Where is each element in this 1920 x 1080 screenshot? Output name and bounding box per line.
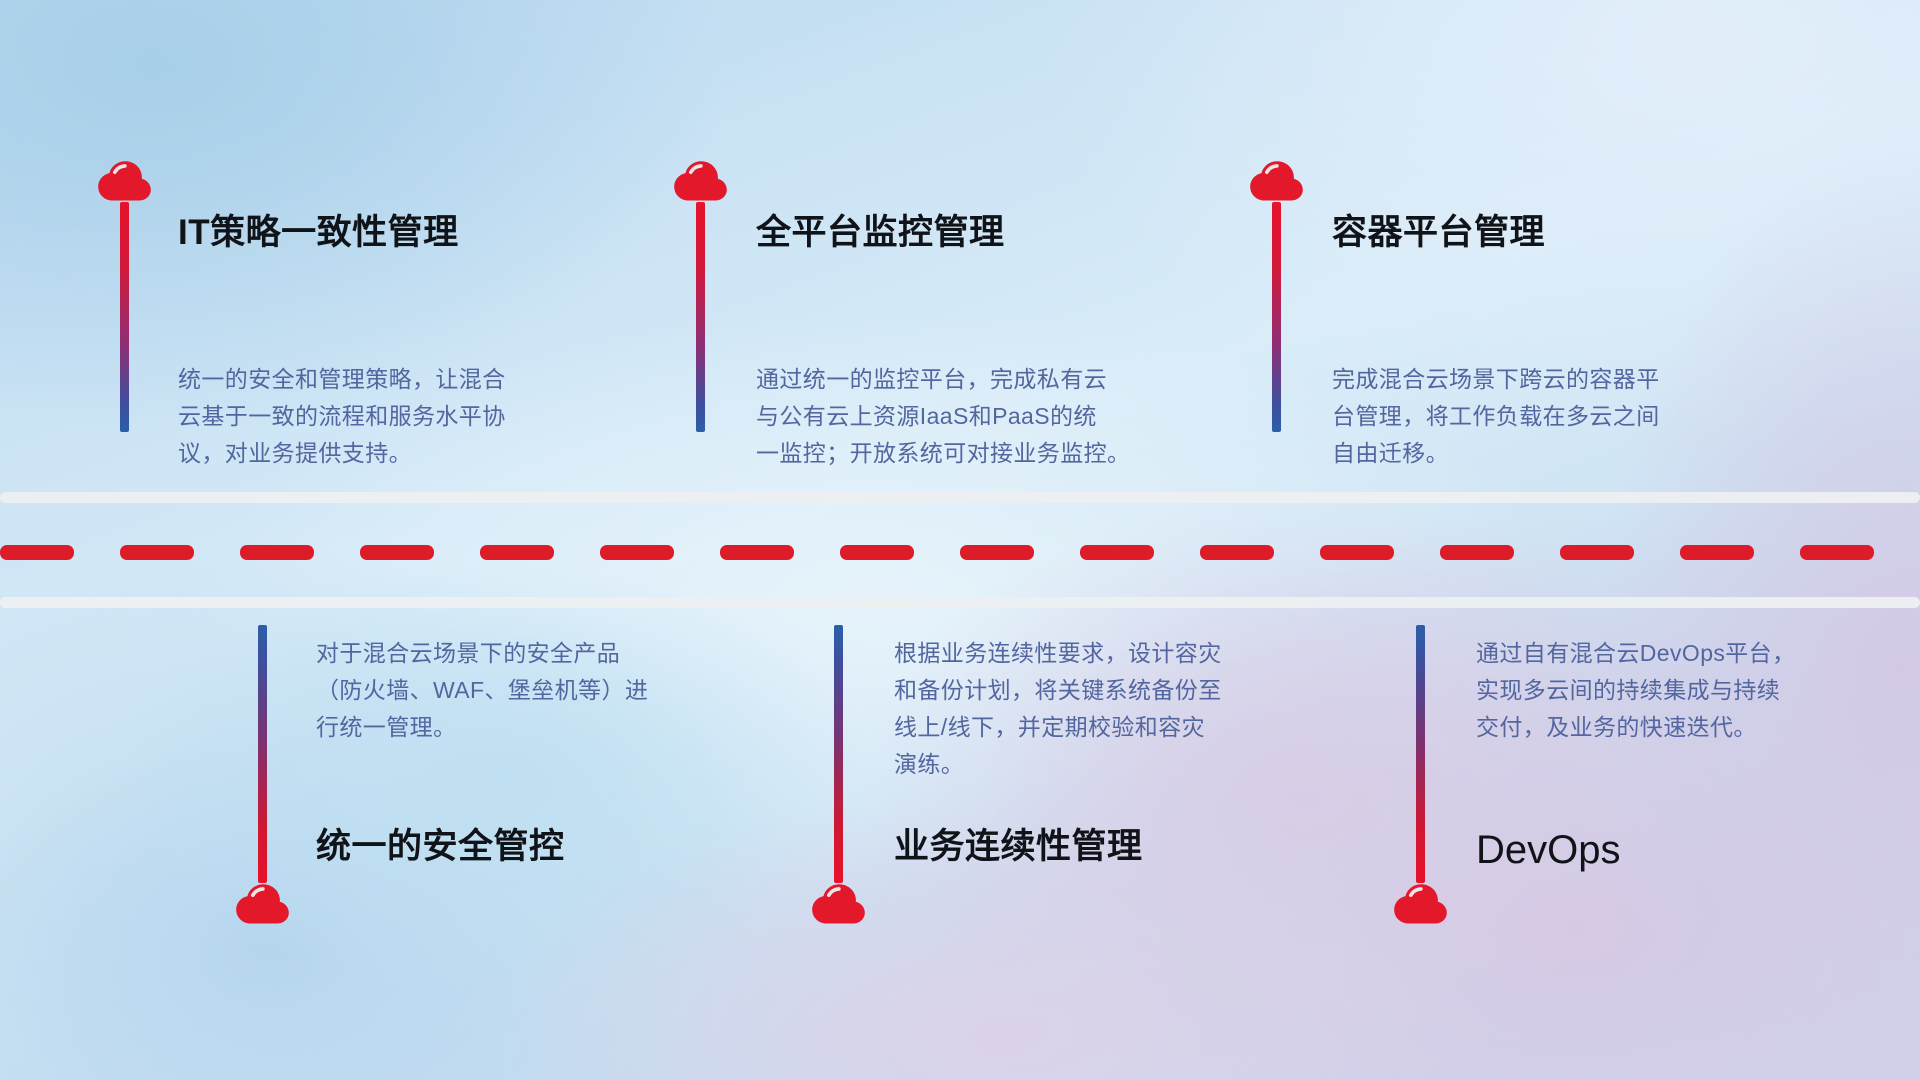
cloud-icon	[1390, 881, 1452, 925]
pin-stem	[1272, 202, 1281, 432]
divider-dash	[360, 545, 434, 560]
pin-stem	[1416, 625, 1425, 883]
divider-dash	[1560, 545, 1634, 560]
card-business-continuity: 业务连续性管理	[894, 826, 1324, 868]
cloud-icon	[232, 881, 294, 925]
card-body-it-policy-consistency: 统一的安全和管理策略，让混合 云基于一致的流程和服务水平协 议，对业务提供支持。	[178, 361, 608, 472]
divider-dash	[960, 545, 1034, 560]
card-title: 统一的安全管控	[316, 826, 746, 868]
pin-full-platform-monitoring	[670, 158, 732, 432]
divider-dash	[1200, 545, 1274, 560]
card-body-text: 通过统一的监控平台，完成私有云 与公有云上资源IaaS和PaaS的统 一监控；开…	[756, 361, 1196, 472]
card-body-text: 统一的安全和管理策略，让混合 云基于一致的流程和服务水平协 议，对业务提供支持。	[178, 361, 608, 472]
pin-stem	[696, 202, 705, 432]
divider-dash	[1800, 545, 1874, 560]
pin-container-platform	[1246, 158, 1308, 432]
card-body-full-platform-monitoring: 通过统一的监控平台，完成私有云 与公有云上资源IaaS和PaaS的统 一监控；开…	[756, 361, 1196, 472]
infographic-canvas: IT策略一致性管理 统一的安全和管理策略，让混合 云基于一致的流程和服务水平协 …	[0, 0, 1920, 1080]
card-it-policy-consistency: IT策略一致性管理	[178, 212, 608, 254]
divider-dashed-line	[0, 545, 1920, 560]
card-body-devops: 通过自有混合云DevOps平台， 实现多云间的持续集成与持续 交付，及业务的快速…	[1476, 635, 1906, 746]
divider-dash	[120, 545, 194, 560]
cloud-icon	[808, 881, 870, 925]
card-container-platform: 容器平台管理	[1332, 212, 1772, 254]
divider-dash	[240, 545, 314, 560]
card-title: DevOps	[1476, 826, 1906, 874]
card-full-platform-monitoring: 全平台监控管理	[756, 212, 1196, 254]
pin-stem	[258, 625, 267, 883]
divider-dash	[1440, 545, 1514, 560]
card-devops: DevOps	[1476, 826, 1906, 874]
card-body-text: 根据业务连续性要求，设计容灾 和备份计划，将关键系统备份至 线上/线下，并定期校…	[894, 635, 1324, 783]
pin-devops	[1390, 625, 1452, 925]
divider-dash	[480, 545, 554, 560]
divider-dash	[720, 545, 794, 560]
card-body-text: 通过自有混合云DevOps平台， 实现多云间的持续集成与持续 交付，及业务的快速…	[1476, 635, 1906, 746]
pin-business-continuity	[808, 625, 870, 925]
divider-dash	[600, 545, 674, 560]
pin-it-policy-consistency	[94, 158, 156, 432]
divider-dash	[1680, 545, 1754, 560]
cloud-icon	[94, 158, 156, 202]
card-title: 容器平台管理	[1332, 212, 1772, 254]
card-unified-security: 统一的安全管控	[316, 826, 746, 868]
pin-stem	[834, 625, 843, 883]
card-title: 全平台监控管理	[756, 212, 1196, 254]
divider-rule-bottom	[0, 597, 1920, 608]
card-title: 业务连续性管理	[894, 826, 1324, 868]
card-body-text: 对于混合云场景下的安全产品 （防火墙、WAF、堡垒机等）进 行统一管理。	[316, 635, 746, 746]
divider-rule-top	[0, 492, 1920, 503]
divider-dash	[0, 545, 74, 560]
card-title: IT策略一致性管理	[178, 212, 608, 254]
divider-dash	[1320, 545, 1394, 560]
cloud-icon	[1246, 158, 1308, 202]
cloud-icon	[670, 158, 732, 202]
pin-stem	[120, 202, 129, 432]
divider-dash	[840, 545, 914, 560]
card-body-unified-security: 对于混合云场景下的安全产品 （防火墙、WAF、堡垒机等）进 行统一管理。	[316, 635, 746, 746]
divider-dash	[1080, 545, 1154, 560]
card-body-business-continuity: 根据业务连续性要求，设计容灾 和备份计划，将关键系统备份至 线上/线下，并定期校…	[894, 635, 1324, 783]
card-body-text: 完成混合云场景下跨云的容器平 台管理，将工作负载在多云之间 自由迁移。	[1332, 361, 1772, 472]
card-body-container-platform: 完成混合云场景下跨云的容器平 台管理，将工作负载在多云之间 自由迁移。	[1332, 361, 1772, 472]
pin-unified-security	[232, 625, 294, 925]
